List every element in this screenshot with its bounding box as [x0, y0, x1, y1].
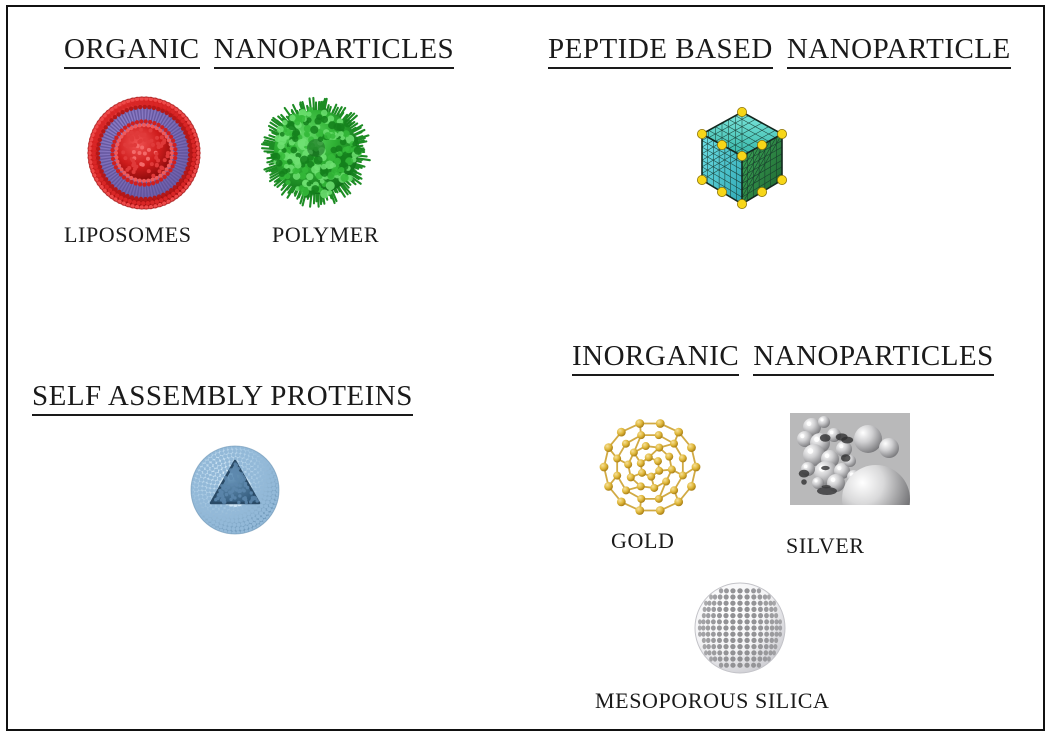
liposome-illustration: [72, 85, 222, 225]
caption-gold: GOLD: [611, 528, 675, 554]
caption-silver: SILVER: [786, 533, 865, 559]
nanoparticle-classification-figure: ORGANICNANOPARTICLES PEPTIDE BASEDNANOPA…: [0, 0, 1055, 740]
heading-organic-word-1: ORGANIC: [64, 33, 200, 69]
silver-nanoparticle-photo: [790, 413, 910, 505]
self-assembly-protein-illustration: [183, 437, 288, 547]
gold-nanoparticle-illustration: [595, 413, 707, 528]
caption-polymer: POLYMER: [272, 222, 379, 248]
heading-inorganic-word-2: NANOPARTICLES: [753, 340, 994, 376]
heading-peptide-word-2: NANOPARTICLE: [787, 33, 1011, 69]
heading-organic-nanoparticles: ORGANICNANOPARTICLES: [64, 33, 454, 69]
heading-inorganic-word-1: INORGANIC: [572, 340, 739, 376]
caption-liposomes: LIPOSOMES: [64, 222, 192, 248]
heading-self-assembly-proteins: SELF ASSEMBLY PROTEINS: [32, 380, 413, 416]
heading-inorganic-nanoparticles: INORGANICNANOPARTICLES: [572, 340, 994, 376]
heading-peptide-word-1: PEPTIDE BASED: [548, 33, 773, 69]
heading-peptide-based-nanoparticle: PEPTIDE BASEDNANOPARTICLE: [548, 33, 1011, 69]
caption-mesoporous-silica: MESOPOROUS SILICA: [595, 688, 830, 714]
mesoporous-silica-illustration: [684, 573, 796, 688]
polymer-dendrimer-illustration: [258, 92, 378, 219]
peptide-capsid-illustration: [686, 104, 798, 219]
heading-organic-word-2: NANOPARTICLES: [214, 33, 455, 69]
heading-self-assembly-word-1: SELF ASSEMBLY PROTEINS: [32, 380, 413, 416]
